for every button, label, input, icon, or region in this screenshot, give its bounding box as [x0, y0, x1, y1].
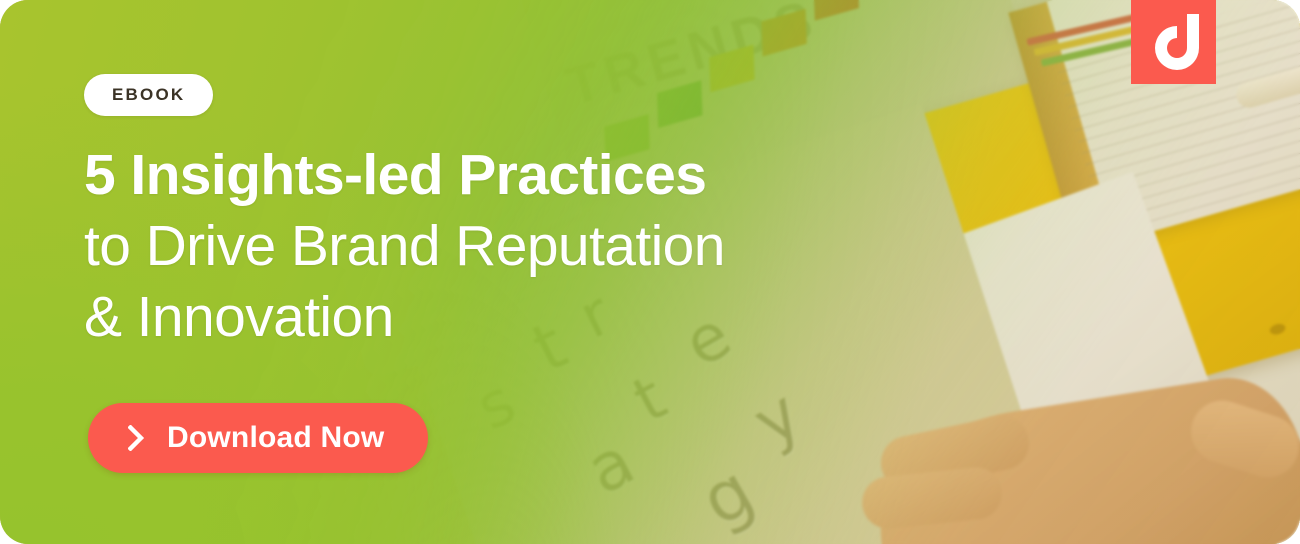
headline-line-2: to Drive Brand Reputation — [84, 211, 984, 282]
headline-line-3: & Innovation — [84, 282, 984, 353]
banner-content: EBOOK 5 Insights-led Practices to Drive … — [0, 0, 1300, 544]
brand-logo[interactable] — [1131, 0, 1216, 84]
dynata-logo-icon — [1149, 14, 1199, 70]
ebook-promo-banner: TRENDS s t r a t e — [0, 0, 1300, 544]
eyebrow-label: EBOOK — [112, 85, 185, 105]
headline-line-1: 5 Insights-led Practices — [84, 140, 984, 211]
download-now-label: Download Now — [167, 421, 384, 455]
download-now-button[interactable]: Download Now — [88, 403, 428, 473]
eyebrow-badge: EBOOK — [84, 74, 213, 116]
chevron-right-icon — [128, 425, 145, 451]
headline: 5 Insights-led Practices to Drive Brand … — [84, 140, 984, 353]
